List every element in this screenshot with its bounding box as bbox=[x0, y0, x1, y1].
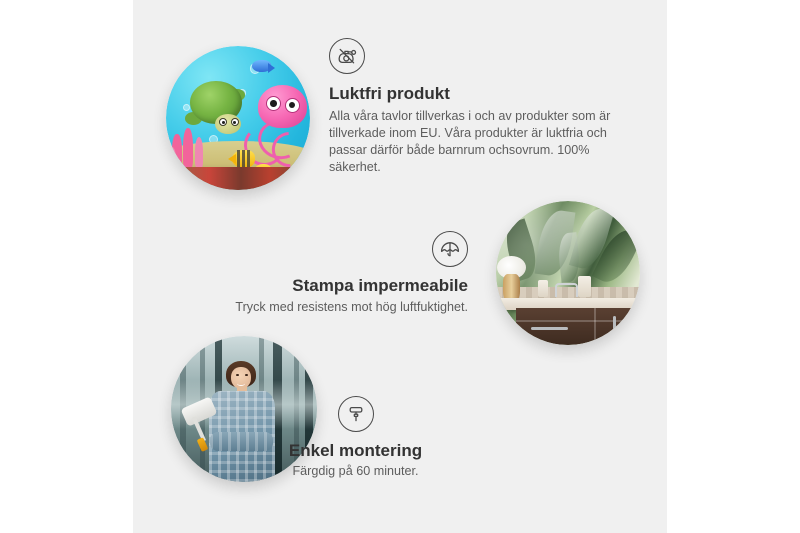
underwater-cartoon-photo bbox=[166, 46, 310, 190]
feature-odourless: Luktfri produkt Alla våra tavlor tillver… bbox=[329, 38, 629, 176]
feature-title: Stampa impermeabile bbox=[215, 275, 468, 296]
feature-title: Enkel montering bbox=[268, 440, 443, 461]
feature-easy-mounting: Enkel montering Färgdig på 60 minuter. bbox=[268, 396, 443, 480]
feature-description: Tryck med resistens mot hög luftfuktighe… bbox=[215, 299, 468, 316]
feature-title: Luktfri produkt bbox=[329, 83, 629, 104]
product-feature-infographic: Luktfri produkt Alla våra tavlor tillver… bbox=[0, 0, 800, 533]
umbrella-icon bbox=[432, 231, 468, 267]
feature-description: Alla våra tavlor tillverkas i och av pro… bbox=[329, 108, 629, 176]
feature-description: Färgdig på 60 minuter. bbox=[268, 463, 443, 480]
icon-wrap-odourless bbox=[329, 38, 629, 74]
bathroom-wallpaper-photo bbox=[496, 201, 640, 345]
paint-roller-icon bbox=[338, 396, 374, 432]
no-odour-spray-bottle-icon bbox=[329, 38, 365, 74]
feature-waterproof: Stampa impermeabile Tryck med resistens … bbox=[215, 231, 468, 316]
icon-wrap-easy-mounting bbox=[268, 396, 443, 432]
icon-wrap-waterproof bbox=[215, 231, 468, 267]
